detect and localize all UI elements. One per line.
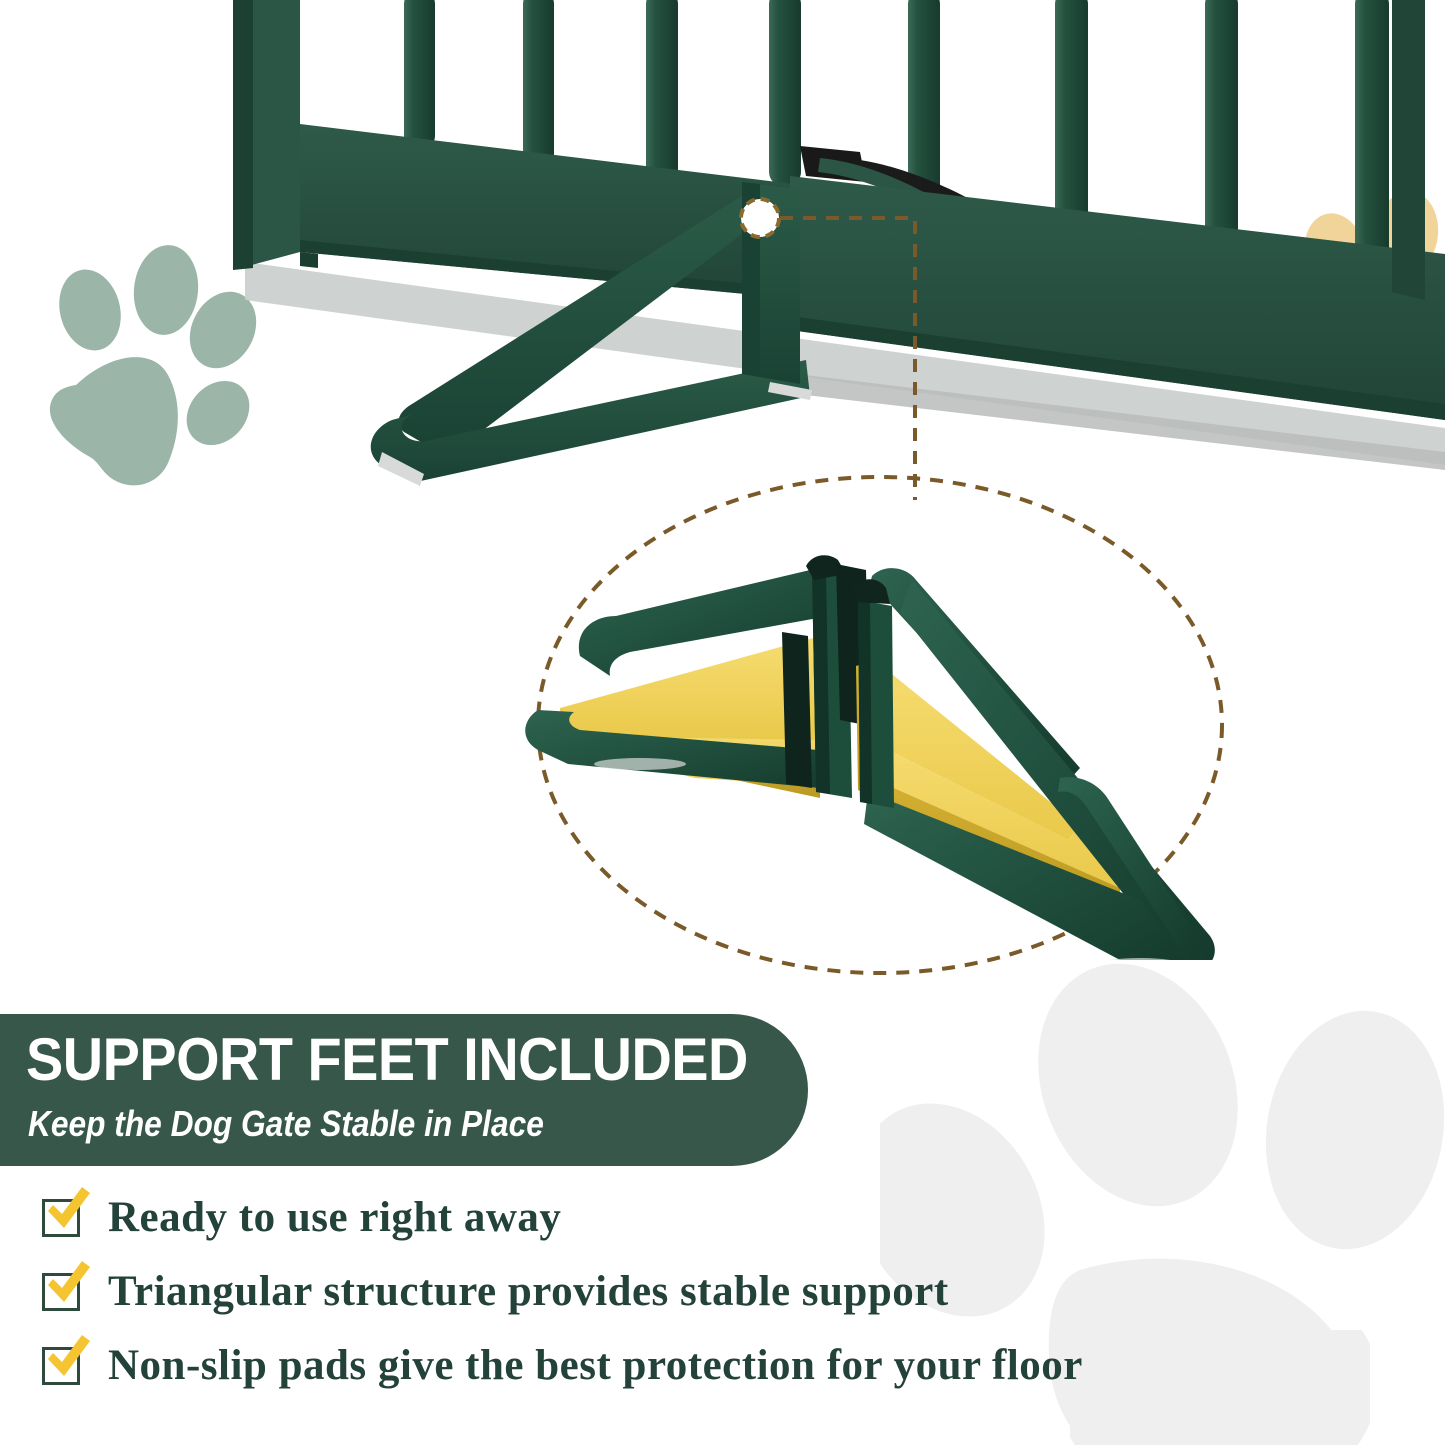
feature-label: Non-slip pads give the best protection f… xyxy=(108,1344,1083,1387)
checkbox-checked-icon xyxy=(42,1193,90,1241)
feature-banner: SUPPORT FEET INCLUDED Keep the Dog Gate … xyxy=(0,1014,808,1166)
feature-item-3: Non-slip pads give the best protection f… xyxy=(0,1328,1445,1402)
feature-list: Ready to use right away Triangular struc… xyxy=(0,1180,1445,1402)
check-mark-icon xyxy=(40,1183,94,1237)
banner-subtitle: Keep the Dog Gate Stable in Place xyxy=(28,1106,544,1142)
feature-item-1: Ready to use right away xyxy=(0,1180,1445,1254)
banner-title: SUPPORT FEET INCLUDED xyxy=(26,1030,748,1090)
feature-label: Ready to use right away xyxy=(108,1196,561,1239)
feature-item-2: Triangular structure provides stable sup… xyxy=(0,1254,1445,1328)
dog-gate-illustration xyxy=(0,0,1445,500)
checkbox-checked-icon xyxy=(42,1267,90,1315)
check-mark-icon xyxy=(40,1257,94,1311)
feature-label: Triangular structure provides stable sup… xyxy=(108,1270,949,1313)
check-mark-icon xyxy=(40,1331,94,1385)
product-marketing-image: SUPPORT FEET INCLUDED Keep the Dog Gate … xyxy=(0,0,1445,1445)
support-feet-detail xyxy=(520,540,1240,960)
checkbox-checked-icon xyxy=(42,1341,90,1389)
